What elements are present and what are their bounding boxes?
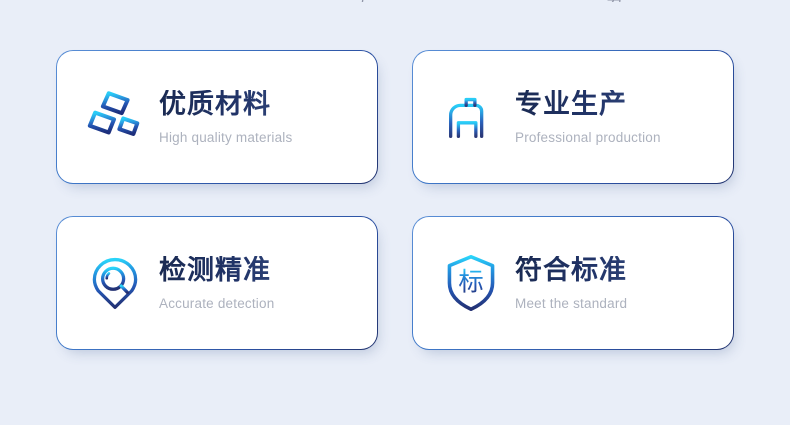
- clipped-heading-fragment-2: 势: [606, 0, 623, 2]
- card-text-block: 符合标准 Meet the standard: [515, 254, 733, 311]
- card-subtitle: High quality materials: [159, 130, 377, 146]
- feature-card-quality-materials[interactable]: 优质材料 High quality materials: [56, 50, 378, 184]
- card-text-block: 专业生产 Professional production: [515, 88, 733, 145]
- feature-card-meet-the-standard[interactable]: 标 符合标准 Meet the standard: [412, 216, 734, 350]
- feature-highlights-section: 产 势: [0, 0, 790, 425]
- card-text-block: 检测精准 Accurate detection: [159, 254, 377, 311]
- factory-icon: [435, 81, 507, 153]
- card-subtitle: Accurate detection: [159, 296, 377, 312]
- feature-card-professional-production[interactable]: 专业生产 Professional production: [412, 50, 734, 184]
- card-subtitle: Meet the standard: [515, 296, 733, 312]
- card-title: 优质材料: [159, 90, 377, 120]
- clipped-heading-above: 产 势: [0, 0, 790, 2]
- gold-bars-icon: [79, 81, 151, 153]
- shield-standard-icon: 标: [435, 247, 507, 319]
- card-text-block: 优质材料 High quality materials: [159, 88, 377, 145]
- card-title: 专业生产: [515, 90, 733, 120]
- location-search-icon: [79, 247, 151, 319]
- clipped-heading-fragment-1: 产: [360, 0, 377, 2]
- card-title: 符合标准: [515, 256, 733, 286]
- card-subtitle: Professional production: [515, 130, 733, 146]
- card-title: 检测精准: [159, 256, 377, 286]
- feature-card-grid: 优质材料 High quality materials: [56, 50, 734, 350]
- feature-card-accurate-detection[interactable]: 检测精准 Accurate detection: [56, 216, 378, 350]
- shield-glyph-label: 标: [458, 268, 483, 297]
